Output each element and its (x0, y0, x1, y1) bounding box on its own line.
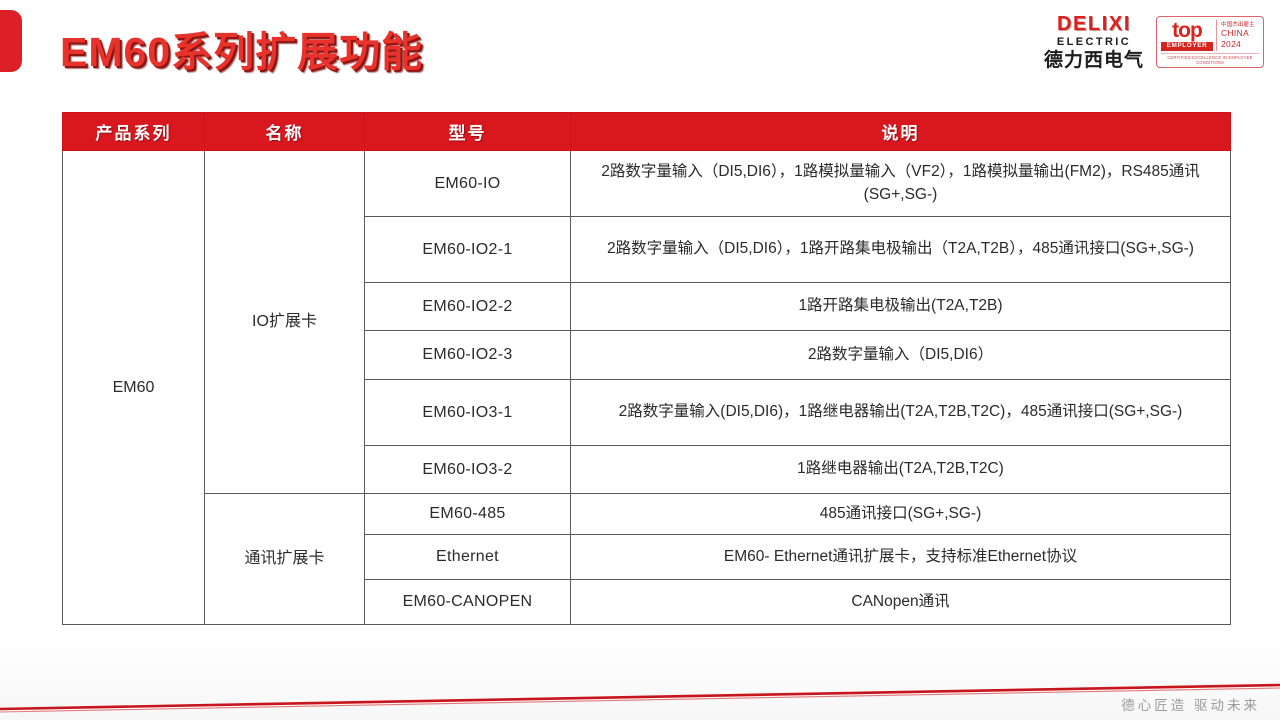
cell-model: EM60-CANOPEN (365, 580, 571, 625)
footer-decoration (0, 660, 1280, 720)
expansion-table-container: 产品系列 名称 型号 说明 EM60 IO扩展卡 EM60-IO 2路数字量输入… (62, 112, 1230, 625)
page-title: EM60系列扩展功能 (60, 18, 423, 78)
delixi-logo: DELIXI ELECTRIC 德力西电气 (1044, 14, 1144, 70)
badge-year: 2024 (1221, 39, 1259, 50)
column-header-series: 产品系列 (63, 113, 205, 151)
delixi-subtitle: ELECTRIC (1044, 37, 1144, 48)
top-employer-badge: top EMPLOYER 中国杰出雇主 CHINA 2024 CERTIFIED… (1156, 16, 1264, 67)
cell-model: EM60-IO (365, 151, 571, 217)
cell-description: 1路开路集电极输出(T2A,T2B) (571, 283, 1231, 331)
column-header-name: 名称 (205, 113, 365, 151)
cell-product-series: EM60 (63, 151, 205, 625)
cell-category-io: IO扩展卡 (205, 151, 365, 494)
branding-area: DELIXI ELECTRIC 德力西电气 top EMPLOYER 中国杰出雇… (1044, 14, 1264, 70)
cell-model: EM60-IO2-3 (365, 331, 571, 380)
badge-left: top EMPLOYER (1161, 20, 1217, 50)
cell-description: 1路继电器输出(T2A,T2B,T2C) (571, 446, 1231, 494)
badge-certification-text: CERTIFIED EXCELLENCE IN EMPLOYEE CONDITI… (1161, 53, 1259, 65)
cell-model: EM60-485 (365, 494, 571, 535)
footer-diagonal-line-icon (0, 660, 1280, 720)
badge-right: 中国杰出雇主 CHINA 2024 (1217, 20, 1259, 50)
cell-model: EM60-IO3-1 (365, 380, 571, 446)
cell-description: EM60- Ethernet通讯扩展卡，支持标准Ethernet协议 (571, 535, 1231, 580)
badge-body: top EMPLOYER 中国杰出雇主 CHINA 2024 (1161, 20, 1259, 50)
cell-model: Ethernet (365, 535, 571, 580)
cell-description: 2路数字量输入（DI5,DI6），1路模拟量输入（VF2），1路模拟量输出(FM… (571, 151, 1231, 217)
cell-description: 2路数字量输入（DI5,DI6），1路开路集电极输出（T2A,T2B），485通… (571, 217, 1231, 283)
slide-canvas: EM60系列扩展功能 DELIXI ELECTRIC 德力西电气 top EMP… (0, 0, 1280, 720)
cell-description: CANopen通讯 (571, 580, 1231, 625)
cell-model: EM60-IO2-1 (365, 217, 571, 283)
badge-top-word: top (1161, 20, 1213, 41)
cell-description: 2路数字量输入（DI5,DI6） (571, 331, 1231, 380)
table-row: 通讯扩展卡 EM60-485 485通讯接口(SG+,SG-) (63, 494, 1231, 535)
badge-country: CHINA (1221, 28, 1259, 39)
title-accent-bar (0, 10, 22, 72)
table-header-row: 产品系列 名称 型号 说明 (63, 113, 1231, 151)
cell-model: EM60-IO2-2 (365, 283, 571, 331)
cell-category-comm: 通讯扩展卡 (205, 494, 365, 625)
delixi-wordmark: DELIXI (1044, 14, 1144, 34)
column-header-desc: 说明 (571, 113, 1231, 151)
column-header-model: 型号 (365, 113, 571, 151)
badge-chinese-text: 中国杰出雇主 (1221, 22, 1259, 29)
table-row: EM60 IO扩展卡 EM60-IO 2路数字量输入（DI5,DI6），1路模拟… (63, 151, 1231, 217)
delixi-chinese-name: 德力西电气 (1044, 51, 1144, 70)
footer-tagline: 德心匠造 驱动未来 (1121, 694, 1260, 714)
expansion-functions-table: 产品系列 名称 型号 说明 EM60 IO扩展卡 EM60-IO 2路数字量输入… (62, 112, 1231, 625)
badge-employer-word: EMPLOYER (1161, 42, 1213, 50)
cell-description: 2路数字量输入(DI5,DI6)，1路继电器输出(T2A,T2B,T2C)，48… (571, 380, 1231, 446)
cell-model: EM60-IO3-2 (365, 446, 571, 494)
cell-description: 485通讯接口(SG+,SG-) (571, 494, 1231, 535)
